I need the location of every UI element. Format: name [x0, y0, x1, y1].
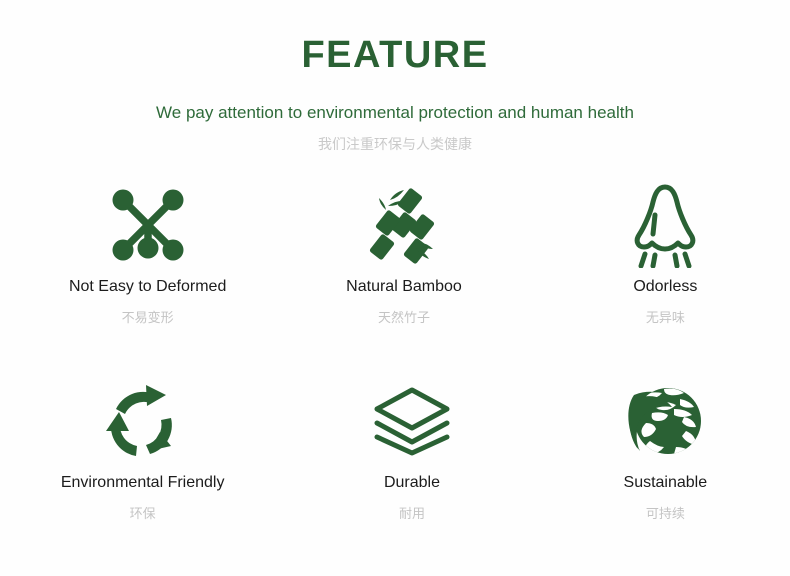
feature-label-en: Sustainable — [624, 475, 708, 491]
nose-icon — [628, 177, 702, 273]
feature-section: FEATURE We pay attention to environmenta… — [0, 0, 790, 576]
molecule-lattice-icon — [110, 177, 186, 273]
feature-label-cn: 天然竹子 — [378, 311, 430, 324]
feature-label-cn: 无异味 — [646, 311, 685, 324]
feature-item-natural-bamboo: Natural Bamboo 天然竹子 — [272, 177, 535, 373]
section-header: FEATURE We pay attention to environmenta… — [0, 0, 790, 151]
globe-leaf-icon — [624, 373, 706, 469]
page-title: FEATURE — [0, 36, 790, 74]
feature-label-cn: 可持续 — [646, 507, 685, 520]
feature-item-durable: Durable 耐用 — [280, 373, 543, 569]
feature-item-odorless: Odorless 无异味 — [534, 177, 790, 373]
feature-label-en: Environmental Friendly — [61, 475, 225, 491]
bamboo-icon — [366, 177, 442, 273]
recycle-icon — [102, 373, 184, 469]
feature-label-en: Not Easy to Deformed — [69, 279, 226, 295]
feature-item-not-easy-to-deformed: Not Easy to Deformed 不易变形 — [16, 177, 279, 373]
feature-label-en: Natural Bamboo — [346, 279, 462, 295]
feature-item-environmental-friendly: Environmental Friendly 环保 — [11, 373, 274, 569]
feature-label-en: Odorless — [633, 279, 697, 295]
subtitle-english: We pay attention to environmental protec… — [0, 104, 790, 121]
feature-item-sustainable: Sustainable 可持续 — [534, 373, 790, 569]
feature-grid: Not Easy to Deformed 不易变形 — [0, 177, 790, 569]
feature-label-cn: 环保 — [130, 507, 156, 520]
feature-label-en: Durable — [384, 475, 440, 491]
layers-stack-icon — [372, 373, 452, 469]
feature-label-cn: 耐用 — [399, 507, 425, 520]
feature-label-cn: 不易变形 — [122, 311, 174, 324]
subtitle-chinese: 我们注重环保与人类健康 — [0, 137, 790, 151]
